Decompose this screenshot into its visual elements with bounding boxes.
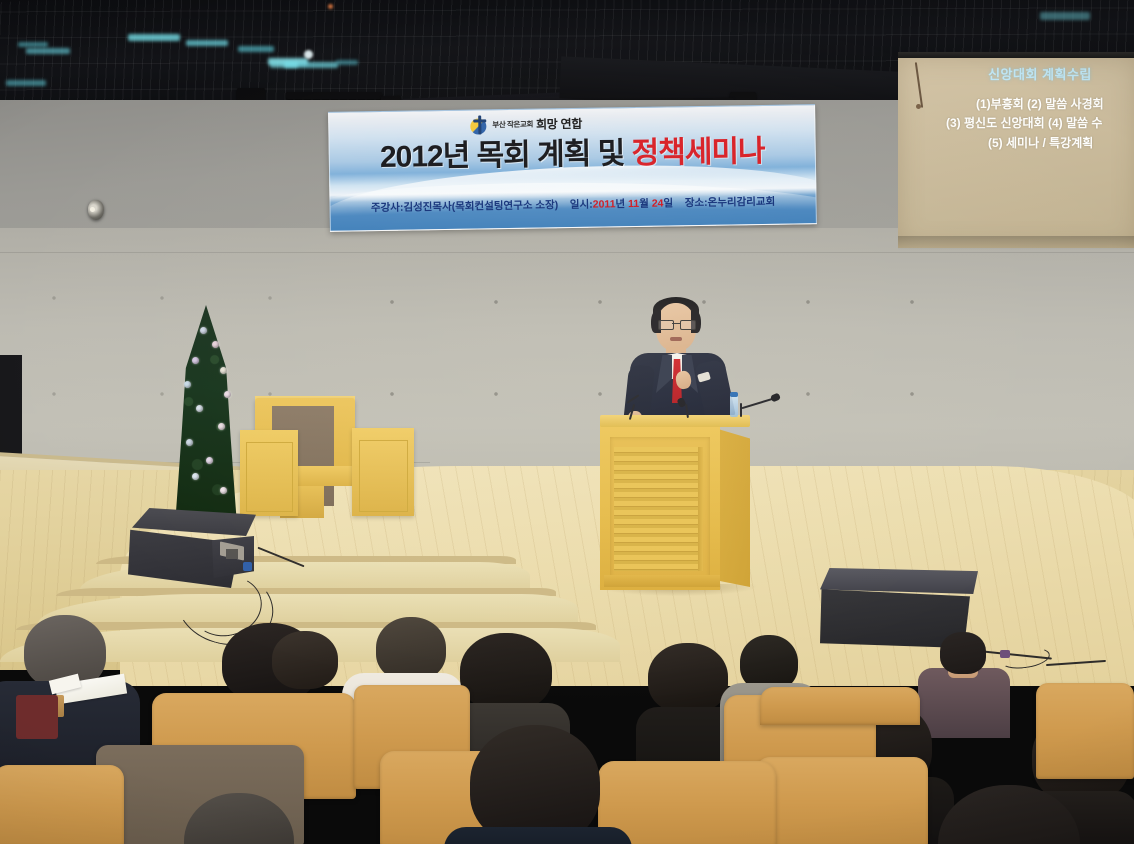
audience-head: [460, 633, 552, 711]
speaker-mouth: [670, 337, 682, 341]
podium: [600, 415, 750, 590]
screen-bottom-shadow: [898, 236, 1134, 250]
ceiling-light-speck: [6, 80, 46, 86]
glasses-lens-left: [658, 320, 674, 330]
podium-slat-louvers: [614, 447, 700, 571]
microphone-right-stem: [740, 403, 742, 417]
photo-scene: 신앙대회 계획수립 (1)부흥회 (2) 말씀 사경회 (3) 평신도 신앙대회…: [0, 0, 1134, 844]
ceiling-light-speck: [336, 60, 358, 65]
wall-recess-panel: [0, 355, 22, 455]
banner-speaker-text: 주강사:김성진목사(목회컨설팅연구소 소장): [371, 199, 558, 214]
podium-base-trim: [604, 575, 720, 587]
tree-ornament: [218, 423, 225, 430]
monitor-right-top: [820, 568, 978, 594]
stage-cabinet-right-panel: [359, 440, 408, 512]
slide-body: (1)부흥회 (2) 말씀 사경회 (3) 평신도 신앙대회 (4) 말씀 수 …: [898, 95, 1134, 153]
monitor-left-top: [132, 508, 256, 536]
ceiling-light-speck: [238, 46, 274, 52]
stage-cabinet-left-panel: [246, 442, 293, 512]
banner-title: 2012년 목회 계획 및 정책세미나: [329, 125, 815, 177]
glasses-bridge: [672, 323, 680, 324]
audience-head: [376, 617, 446, 681]
water-bottle-cap: [730, 392, 738, 397]
ceiling-light-speck: [270, 62, 298, 68]
banner-place-text: 장소:온누리감리교회: [685, 196, 776, 209]
podium-slat-rail: [698, 447, 703, 571]
ceiling-indicator-light: [328, 4, 333, 9]
ceiling-cable-tray: [286, 92, 382, 99]
banner-date-label: 일시:: [570, 199, 593, 211]
audience-head: [272, 631, 338, 689]
tree-ornament: [220, 367, 227, 374]
audience-seat-front: [756, 757, 928, 844]
ceiling-light-speck: [26, 48, 70, 54]
banner-date-month-unit: 월: [639, 198, 649, 210]
ceiling-light-speck: [304, 50, 313, 59]
event-banner: 부산 작은교회 희망 연합 2012년 목회 계획 및 정책세미나 주강사:김성…: [328, 104, 817, 232]
ceiling-light-speck: [1040, 12, 1090, 20]
glasses-lens-right: [680, 320, 696, 330]
tree-ornament: [200, 327, 207, 334]
tree-ornament: [220, 487, 227, 494]
ceiling-light-speck: [128, 34, 180, 41]
logo-small-text: 부산 작은교회: [492, 119, 533, 131]
speaker-person: [612, 295, 742, 425]
audience-shoulders-foreground: [444, 827, 632, 844]
tree-ornament: [184, 381, 191, 388]
speaker-glasses-icon: [658, 320, 694, 328]
concrete-panel-seam: [0, 252, 1134, 253]
slide-title: 신앙대회 계획수립: [898, 64, 1134, 83]
wall-spotlight-lens-icon: [90, 207, 95, 212]
audience-head: [648, 643, 728, 713]
banner-date-month: 11: [628, 198, 639, 210]
tree-foliage-texture: [170, 305, 242, 515]
banner-date-year-unit: 년: [615, 198, 625, 210]
audience-seat-front: [0, 765, 124, 844]
banner-date-year: 2011: [593, 198, 616, 210]
monitor-left-plug: [243, 562, 252, 571]
tree-ornament: [224, 391, 231, 398]
tree-ornament: [212, 341, 219, 348]
cross-horizontal-icon: [473, 119, 486, 122]
audience-seat-backrest: [760, 687, 920, 725]
tree-ornament: [192, 473, 199, 480]
banner-date-day: 24: [652, 198, 664, 210]
audience-seat: [1036, 683, 1134, 779]
slide-line-1: (1)부흥회 (2) 말씀 사경회: [898, 95, 1134, 114]
banner-date-day-unit: 일: [663, 197, 673, 209]
tree-ornament: [186, 439, 193, 446]
banner-title-red: 정책세미나: [631, 135, 765, 170]
slide-line-3: (5) 세미나 / 특강계획: [898, 134, 1134, 153]
slide-line-2: (3) 평신도 신앙대회 (4) 말씀 수: [898, 114, 1134, 133]
christmas-tree: [170, 305, 242, 515]
tree-ornament: [206, 457, 213, 464]
banner-title-dark: 2012년 목회 계획 및: [380, 137, 625, 174]
tree-ornament: [196, 405, 203, 412]
podium-side-panel: [718, 429, 750, 587]
podium-top-surface: [600, 415, 750, 427]
water-bottle: [730, 395, 738, 417]
ceiling-light-speck: [18, 42, 48, 47]
monitor-left-port-inner: [226, 549, 238, 559]
audience-bag: [16, 695, 58, 739]
audience-area: [0, 595, 1134, 844]
tree-ornament: [192, 357, 199, 364]
ceiling-light-speck: [186, 40, 228, 46]
audience-seat-front: [598, 761, 776, 844]
